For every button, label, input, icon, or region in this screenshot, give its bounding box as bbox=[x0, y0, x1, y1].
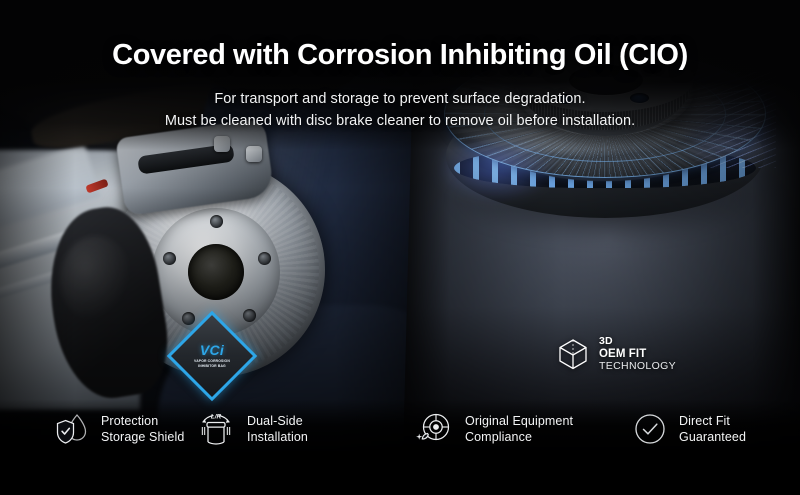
feature-line-1: Direct Fit bbox=[679, 413, 746, 429]
feature-line-1: Original Equipment bbox=[465, 413, 573, 429]
feature-label: Direct Fit Guaranteed bbox=[679, 413, 746, 446]
brake-pad-lr-icon: L/R bbox=[196, 411, 236, 447]
feature-strip: Protection Storage Shield L/R bbox=[0, 399, 800, 495]
check-circle-icon bbox=[632, 411, 668, 447]
shield-droplet-icon bbox=[56, 411, 90, 447]
wireframe-cube-icon bbox=[556, 337, 590, 371]
feature-line-1: Protection bbox=[101, 413, 184, 429]
vci-badge-title: VCi bbox=[200, 343, 224, 357]
marketing-banner: Covered with Corrosion Inhibiting Oil (C… bbox=[0, 0, 800, 495]
feature-item-dual-side-installation: L/R Dual-Side Installation bbox=[196, 411, 308, 447]
feature-label: Dual-Side Installation bbox=[247, 413, 308, 446]
feature-item-protection-storage-shield: Protection Storage Shield bbox=[56, 411, 184, 447]
feature-item-original-equipment-compliance: Original Equipment Compliance bbox=[414, 411, 573, 447]
feature-item-direct-fit-guaranteed: Direct Fit Guaranteed bbox=[632, 411, 746, 447]
vci-badge-subtitle: VAPOR CORROSION INHIBITOR BAG bbox=[189, 359, 235, 368]
svg-text:L/R: L/R bbox=[211, 414, 222, 421]
feature-line-2: Guaranteed bbox=[679, 429, 746, 445]
rotor-sparkle-icon bbox=[414, 411, 454, 447]
feature-line-1: Dual-Side bbox=[247, 413, 308, 429]
oem-fit-badge: 3D OEM FIT TECHNOLOGY bbox=[556, 336, 676, 372]
oem-badge-line-1: 3D bbox=[599, 336, 676, 348]
feature-line-2: Storage Shield bbox=[101, 429, 184, 445]
oem-badge-line-3: TECHNOLOGY bbox=[599, 361, 676, 373]
oem-badge-text: 3D OEM FIT TECHNOLOGY bbox=[599, 336, 676, 372]
feature-line-2: Installation bbox=[247, 429, 308, 445]
vci-badge-content: VCi VAPOR CORROSION INHIBITOR BAG bbox=[180, 324, 244, 388]
vci-diamond-badge: VCi VAPOR CORROSION INHIBITOR BAG bbox=[180, 324, 244, 388]
feature-label: Protection Storage Shield bbox=[101, 413, 184, 446]
feature-line-2: Compliance bbox=[465, 429, 573, 445]
feature-label: Original Equipment Compliance bbox=[465, 413, 573, 446]
oem-badge-line-2: OEM FIT bbox=[599, 348, 676, 361]
